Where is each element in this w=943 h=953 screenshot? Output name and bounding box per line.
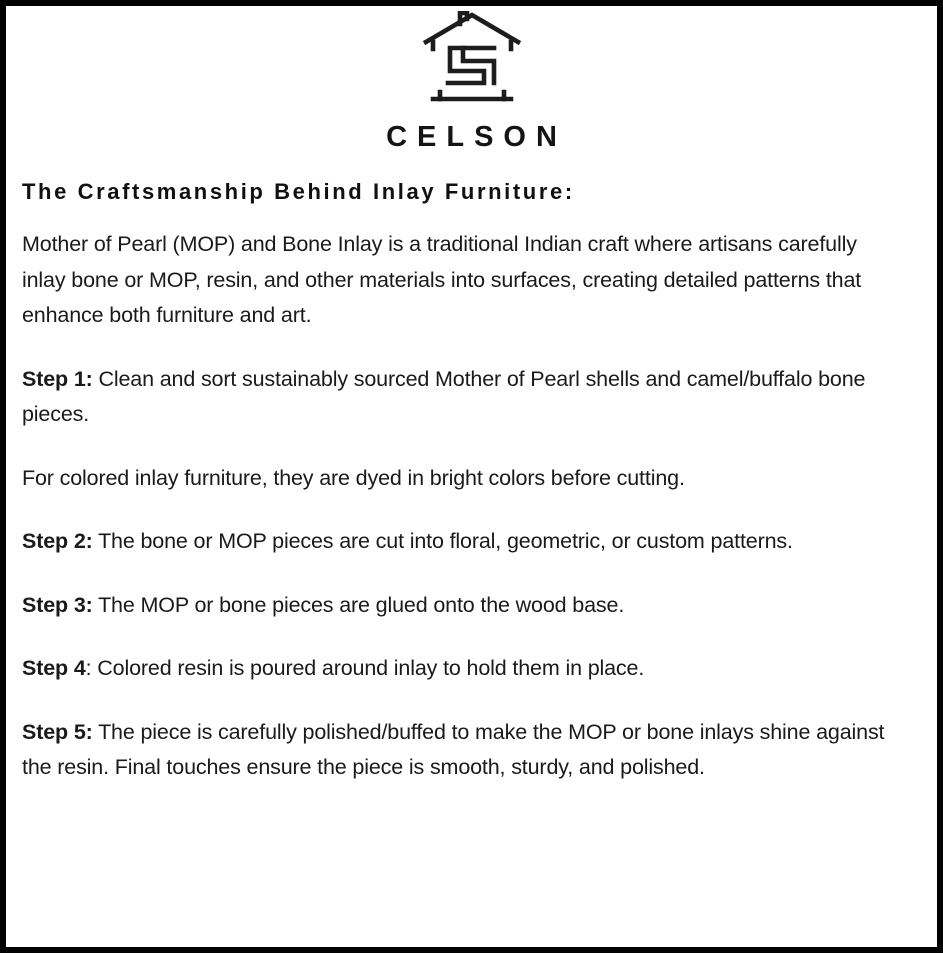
poster-content: CELSON The Craftsmanship Behind Inlay Fu… — [6, 6, 937, 947]
brand-name: CELSON — [16, 123, 927, 152]
step-label: Step 3: — [22, 593, 93, 617]
paragraph-step-5: Step 5: The piece is carefully polished/… — [22, 715, 906, 786]
house-with-s-monogram-icon — [422, 11, 522, 111]
poster-frame: CELSON The Craftsmanship Behind Inlay Fu… — [0, 0, 943, 953]
paragraph-colored-inlay-note: For colored inlay furniture, they are dy… — [22, 461, 906, 497]
paragraph-text: The piece is carefully polished/buffed t… — [22, 720, 884, 780]
paragraph-step-1: Step 1: Clean and sort sustainably sourc… — [22, 362, 906, 433]
paragraph-text: For colored inlay furniture, they are dy… — [22, 466, 685, 490]
article-body: Mother of Pearl (MOP) and Bone Inlay is … — [22, 205, 906, 786]
paragraph-step-2: Step 2: The bone or MOP pieces are cut i… — [22, 524, 906, 560]
step-label: Step 2: — [22, 529, 93, 553]
paragraph-step-3: Step 3: The MOP or bone pieces are glued… — [22, 588, 906, 624]
step-label: Step 4 — [22, 656, 86, 680]
step-label: Step 1: — [22, 367, 93, 391]
paragraph-text: The MOP or bone pieces are glued onto th… — [93, 593, 625, 617]
step-label: Step 5: — [22, 720, 93, 744]
paragraph-text: Mother of Pearl (MOP) and Bone Inlay is … — [22, 232, 861, 327]
paragraph-text: The bone or MOP pieces are cut into flor… — [93, 529, 793, 553]
paragraph-text: : Colored resin is poured around inlay t… — [86, 656, 645, 680]
paragraph-step-4: Step 4: Colored resin is poured around i… — [22, 651, 906, 687]
paragraph-text: Clean and sort sustainably sourced Mothe… — [22, 367, 865, 427]
brand-header: CELSON — [16, 6, 927, 152]
page-title: The Craftsmanship Behind Inlay Furniture… — [22, 179, 927, 205]
paragraph-intro: Mother of Pearl (MOP) and Bone Inlay is … — [22, 227, 906, 334]
